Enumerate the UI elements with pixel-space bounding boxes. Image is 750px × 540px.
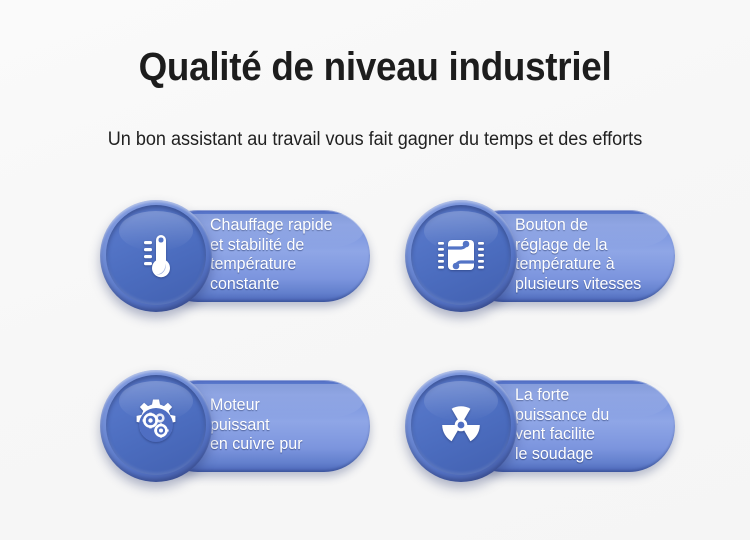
feature-card-grid: Chauffage rapide et stabilité de tempéra… — [0, 196, 750, 516]
feature-label: La forte puissance du vent facilite le s… — [515, 386, 670, 464]
feature-label: Moteur puissant en cuivre pur — [210, 396, 365, 455]
header: Qualité de niveau industriel Un bon assi… — [0, 44, 750, 90]
gears-icon — [128, 397, 184, 453]
page-subtitle: Un bon assistant au travail vous fait ga… — [19, 128, 732, 152]
feature-card-air-power[interactable]: La forte puissance du vent facilite le s… — [405, 370, 675, 482]
radiation-icon — [433, 397, 489, 453]
feature-icon-badge — [405, 200, 517, 312]
page-title: Qualité de niveau industriel — [30, 44, 720, 90]
feature-icon-badge-inner — [106, 375, 206, 475]
feature-icon-badge-inner — [106, 205, 206, 305]
feature-label: Bouton de réglage de la température à pl… — [515, 216, 670, 294]
feature-label: Chauffage rapide et stabilité de tempéra… — [210, 216, 365, 294]
feature-icon-badge — [405, 370, 517, 482]
feature-icon-badge-inner — [411, 205, 511, 305]
feature-icon-badge-inner — [411, 375, 511, 475]
feature-card-heating[interactable]: Chauffage rapide et stabilité de tempéra… — [100, 200, 370, 312]
feature-icon-badge — [100, 370, 212, 482]
feature-icon-badge — [100, 200, 212, 312]
thermometer-icon — [128, 227, 184, 283]
promo-banner: Qualité de niveau industriel Un bon assi… — [0, 0, 750, 540]
feature-card-temperature-control[interactable]: Bouton de réglage de la température à pl… — [405, 200, 675, 312]
chip-icon — [433, 227, 489, 283]
feature-card-motor[interactable]: Moteur puissant en cuivre pur — [100, 370, 370, 482]
